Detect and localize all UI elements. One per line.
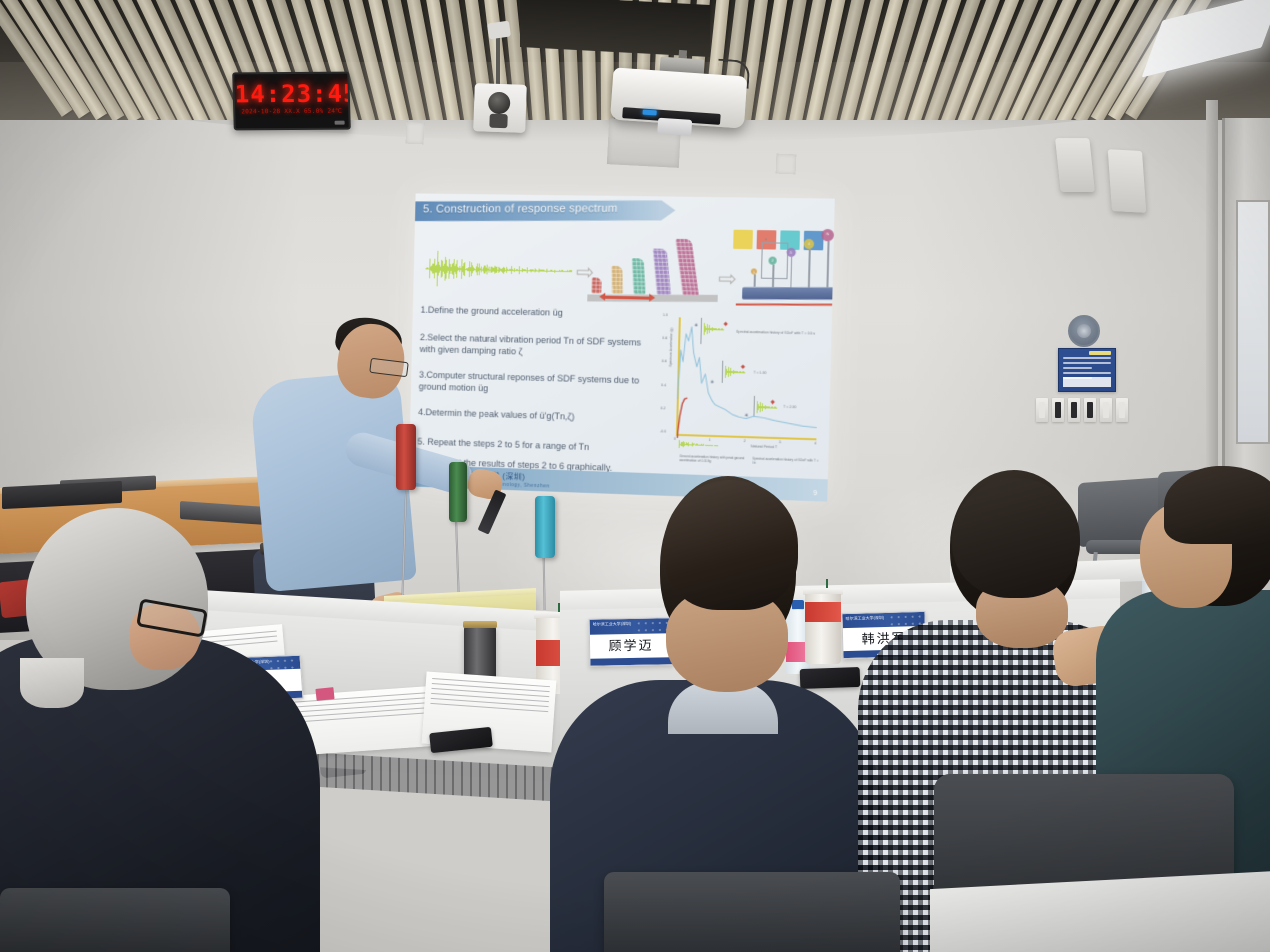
inset-peak-marker <box>724 322 728 326</box>
light-switch-2[interactable] <box>1052 398 1064 422</box>
paper-lines <box>430 678 550 716</box>
oscillator-stem <box>826 241 829 288</box>
ceiling-camera <box>473 83 527 133</box>
chart-y-tick: 1.0 <box>663 313 668 317</box>
chart-inset-3: T = 2.00 <box>753 396 775 417</box>
slide-building-5 <box>675 239 698 296</box>
inset-label: T = 1.00 <box>753 371 766 375</box>
placard-org: 哈尔滨工业大学(深圳) <box>593 621 632 628</box>
arrow-right-icon-2: ⇨ <box>718 268 737 291</box>
inset-peak-marker <box>771 400 775 404</box>
clock-time-display: 14:23:45 <box>234 80 348 109</box>
inset-mini-trace <box>702 318 719 341</box>
wall-speaker-right <box>1108 149 1147 213</box>
attendee-left-hair-lower <box>20 658 84 708</box>
ceiling-beam <box>520 0 710 57</box>
chart-y-tick: 0.8 <box>662 336 667 340</box>
placard-ornament <box>637 619 670 633</box>
demo-mass-green <box>449 462 467 522</box>
binder-clip[interactable] <box>315 687 334 701</box>
inset-mini-trace <box>724 361 741 384</box>
oscillator-label: 1 <box>753 270 755 275</box>
oscillator-mass: 2 <box>768 257 776 265</box>
placard-org: 哈尔滨工业大学(深圳) <box>845 615 884 622</box>
chart-marker-1: ✳ <box>694 324 698 328</box>
sign-title-bar <box>1089 351 1111 355</box>
chart-marker-3: ✳ <box>744 414 748 418</box>
oscillator-stem <box>772 265 774 287</box>
projector-lens <box>657 118 692 136</box>
slide-oscillator-3: 3 <box>785 248 795 288</box>
presenter-shirt <box>249 370 417 592</box>
waveform-bar <box>571 271 572 272</box>
light-switch-bank[interactable] <box>1036 398 1128 422</box>
slide-oscillator-2: 2 <box>768 257 777 288</box>
chart-y-tick: -0.0 <box>660 429 666 433</box>
placard-header: 哈尔滨工业大学(深圳) <box>842 612 924 628</box>
projected-slide: 5. Construction of response spectrum ⇨ ⇨… <box>409 193 835 501</box>
placard-ornament <box>269 657 299 670</box>
chart-curves <box>676 317 822 442</box>
light-switch-4[interactable] <box>1084 398 1096 422</box>
projector-body <box>610 67 747 128</box>
slide-title: 5. Construction of response spectrum <box>423 202 680 215</box>
light-switch-3[interactable] <box>1068 398 1080 422</box>
slide-building-3 <box>632 258 646 294</box>
wall-speaker-left <box>1055 138 1095 192</box>
chart-y-axis-label: Spectrum Acceleration (g) <box>668 312 674 382</box>
door-glass-panel <box>1236 200 1270 444</box>
institution-seal-icon <box>1068 315 1100 347</box>
wall-notice-sign <box>1058 348 1116 392</box>
chart-marker-2: ✳ <box>710 380 714 384</box>
inset-peak-marker <box>741 365 745 369</box>
chart-inset-2: T = 1.00 <box>722 361 746 384</box>
slide-bullet-1: 1.Define the ground acceleration üg <box>420 304 648 321</box>
slide-bullet-3: 3.Computer structural reponses of SDF sy… <box>419 369 648 399</box>
clock-sub-display: 2024-10-28 XX.X 65.0% 24℃ <box>235 108 348 116</box>
inset-label: T = 2.00 <box>783 405 796 409</box>
oscillator-rail <box>736 303 835 305</box>
chart-legend-item-2: Spectral acceleration history of SDoF wi… <box>752 457 822 467</box>
slide-bullet-2: 2.Select the natural vibration period Tn… <box>419 331 648 361</box>
slide-oscillator-4: 4 <box>803 239 814 288</box>
cup-body <box>805 594 841 664</box>
wall-outlet-plate <box>406 122 425 145</box>
oscillator-stem <box>754 274 756 286</box>
oscillator-label: 4 <box>808 241 810 246</box>
placard-footer <box>590 657 672 666</box>
oscillator-mass: 1 <box>751 268 757 274</box>
smartphone-right[interactable] <box>800 667 861 689</box>
chart-ground-motion-trace <box>678 438 719 451</box>
oscillator-stem <box>790 257 792 287</box>
slide-bullet-4: 4.Determin the peak values of ü'g(Tn,ζ) <box>418 406 646 425</box>
name-placard-gu: 哈尔滨工业大学(深圳) 顾学迈 <box>589 617 674 666</box>
demo-mass-cyan <box>535 496 555 558</box>
oscillator-cart <box>742 287 835 299</box>
foreground-chair-left[interactable] <box>0 888 230 952</box>
slide-bullet-5: 5. Repeat the steps 2 to 5 for a range o… <box>417 436 645 456</box>
attendee-center-hair <box>664 480 798 610</box>
chart-inset-1: Spectral acceleration history of SDoF wi… <box>700 318 728 345</box>
ceiling-projector <box>610 53 749 134</box>
wall-digital-clock: 14:23:45 2024-10-28 XX.X 65.0% 24℃ <box>232 72 351 131</box>
oscillator-mass: 4 <box>804 239 815 249</box>
lecture-room-screenshot: 14:23:45 2024-10-28 XX.X 65.0% 24℃ <box>0 0 1270 952</box>
placard-name-text: 顾学迈 <box>590 634 672 656</box>
oscillator-mass: N <box>821 229 834 241</box>
slide-oscillator-N: N <box>820 229 834 288</box>
thermos-lid <box>463 621 497 628</box>
oscillator-mass: 3 <box>786 248 795 257</box>
camera-lens-icon <box>488 92 511 115</box>
chart-y-tick: 0.4 <box>661 383 666 387</box>
foreground-chair-center[interactable] <box>604 872 900 952</box>
sign-icon-row <box>1063 377 1111 387</box>
placard-header: 哈尔滨工业大学(深圳) <box>590 618 672 634</box>
oscillator-stem <box>808 249 810 288</box>
camera-bracket <box>487 21 511 40</box>
oscillator-label: N <box>826 231 829 236</box>
inset-mini-trace <box>755 396 772 419</box>
attendee-rear-head <box>952 478 1080 598</box>
light-switch-6[interactable] <box>1116 398 1128 422</box>
slide-oscillator-1: 1 <box>751 268 758 286</box>
slide-page-number: 9 <box>813 490 817 497</box>
response-spectrum-chart: Spectrum Acceleration (g) Natural Period… <box>657 315 823 469</box>
projector-power-led <box>642 110 656 116</box>
wall-access-panel <box>776 154 797 175</box>
chart-y-tick: 0.6 <box>662 360 667 364</box>
camera-pole <box>496 34 500 86</box>
slide-building-1 <box>591 277 601 293</box>
oscillator-label: 3 <box>790 249 792 254</box>
slide-swatch-1 <box>733 230 753 249</box>
cup-sleeve <box>805 602 841 622</box>
light-switch-5[interactable] <box>1100 398 1112 422</box>
oscillator-label: 2 <box>771 258 773 263</box>
chart-y-tick: 0.2 <box>660 406 665 410</box>
attendee-far-hair-top <box>1164 466 1270 544</box>
ground-motion-waveform <box>425 249 573 291</box>
demo-mass-red <box>396 424 416 490</box>
coffee-cup-right[interactable] <box>805 588 841 664</box>
chart-legend-item-1: Ground acceleration history with peak gr… <box>679 454 748 464</box>
slide-building-4 <box>653 249 671 296</box>
light-switch-1[interactable] <box>1036 398 1048 422</box>
clock-indicator-led <box>335 121 345 125</box>
camera-sensor-icon <box>489 114 507 129</box>
slide-building-2 <box>611 266 622 294</box>
chart-x-axis-label: Natural Period T <box>751 444 778 449</box>
